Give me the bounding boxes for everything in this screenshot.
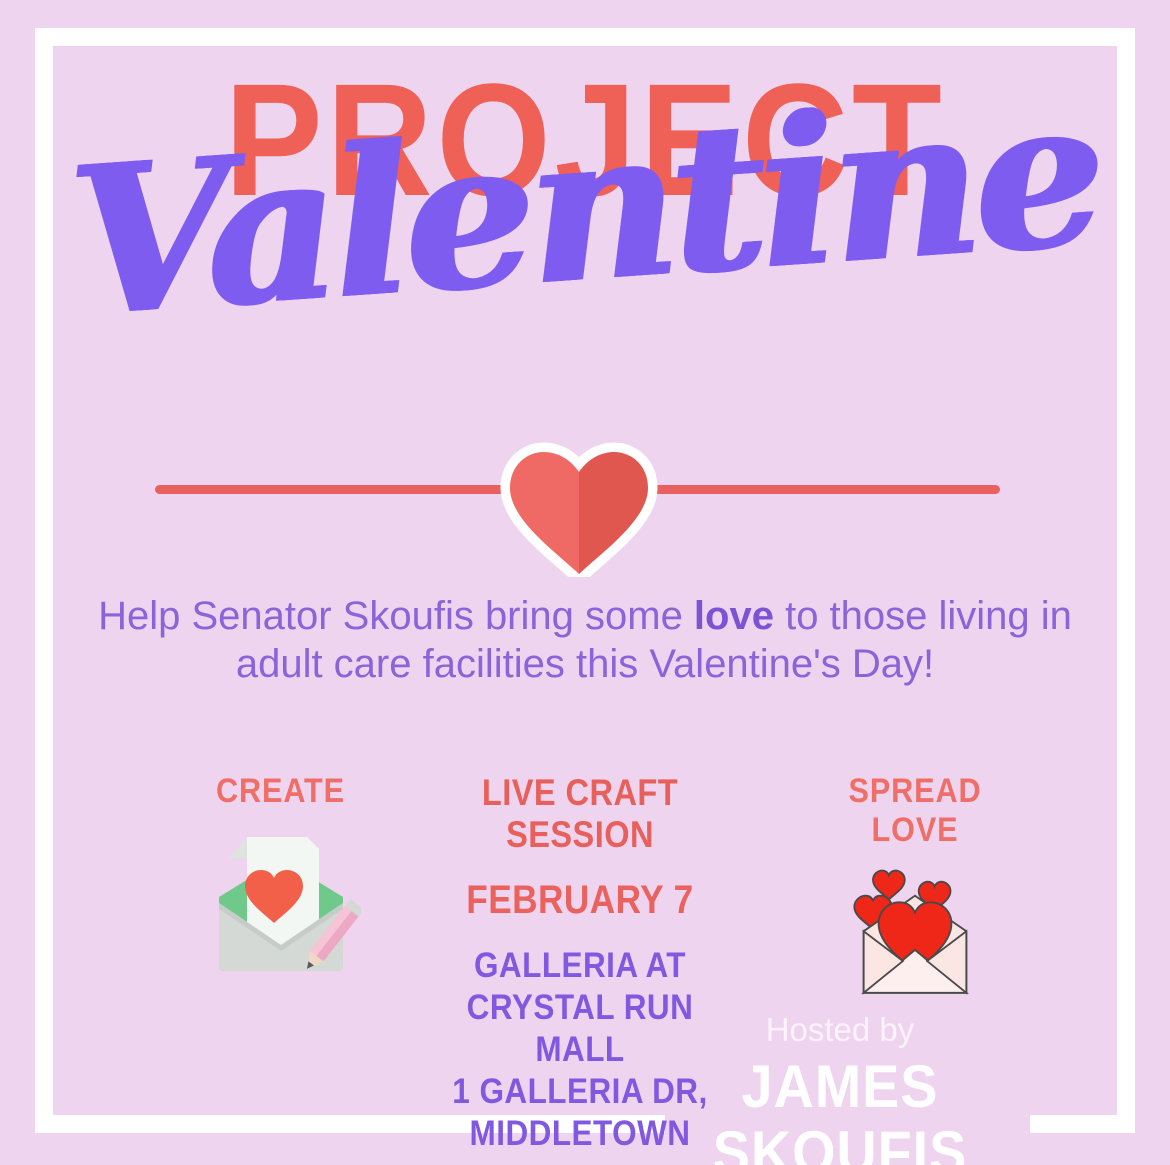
column-create: CREATE — [168, 772, 393, 975]
divider — [0, 485, 1170, 495]
hosted-by-label: Hosted by — [640, 1010, 1040, 1050]
venue-line-1: GALLERIA AT — [418, 945, 742, 987]
event-date: FEBRUARY 7 — [422, 878, 739, 923]
frame-border-top — [35, 28, 1135, 46]
body-copy: Help Senator Skoufis bring some love to … — [85, 592, 1085, 688]
valentine-flyer: PROJECT Valentine Help Senator Skoufis b… — [0, 0, 1170, 1165]
hosted-by-block: Hosted by JAMES SKOUFIS State Senator — [640, 1010, 1040, 1165]
frame-border-bottom-right — [1030, 1115, 1135, 1133]
event-heading: LIVE CRAFT SESSION — [422, 772, 739, 856]
body-copy-part1: Help Senator Skoufis bring some — [98, 594, 694, 638]
body-copy-emphasis: love — [694, 594, 774, 638]
create-label: CREATE — [179, 772, 382, 811]
heart-icon — [496, 442, 662, 577]
open-envelope-hearts-icon — [845, 864, 985, 1004]
spread-love-label: SPREAD LOVE — [803, 772, 1028, 850]
host-name: JAMES SKOUFIS — [654, 1054, 1026, 1165]
column-spread-love: SPREAD LOVE — [790, 772, 1040, 1004]
envelope-card-pencil-icon — [201, 825, 361, 975]
